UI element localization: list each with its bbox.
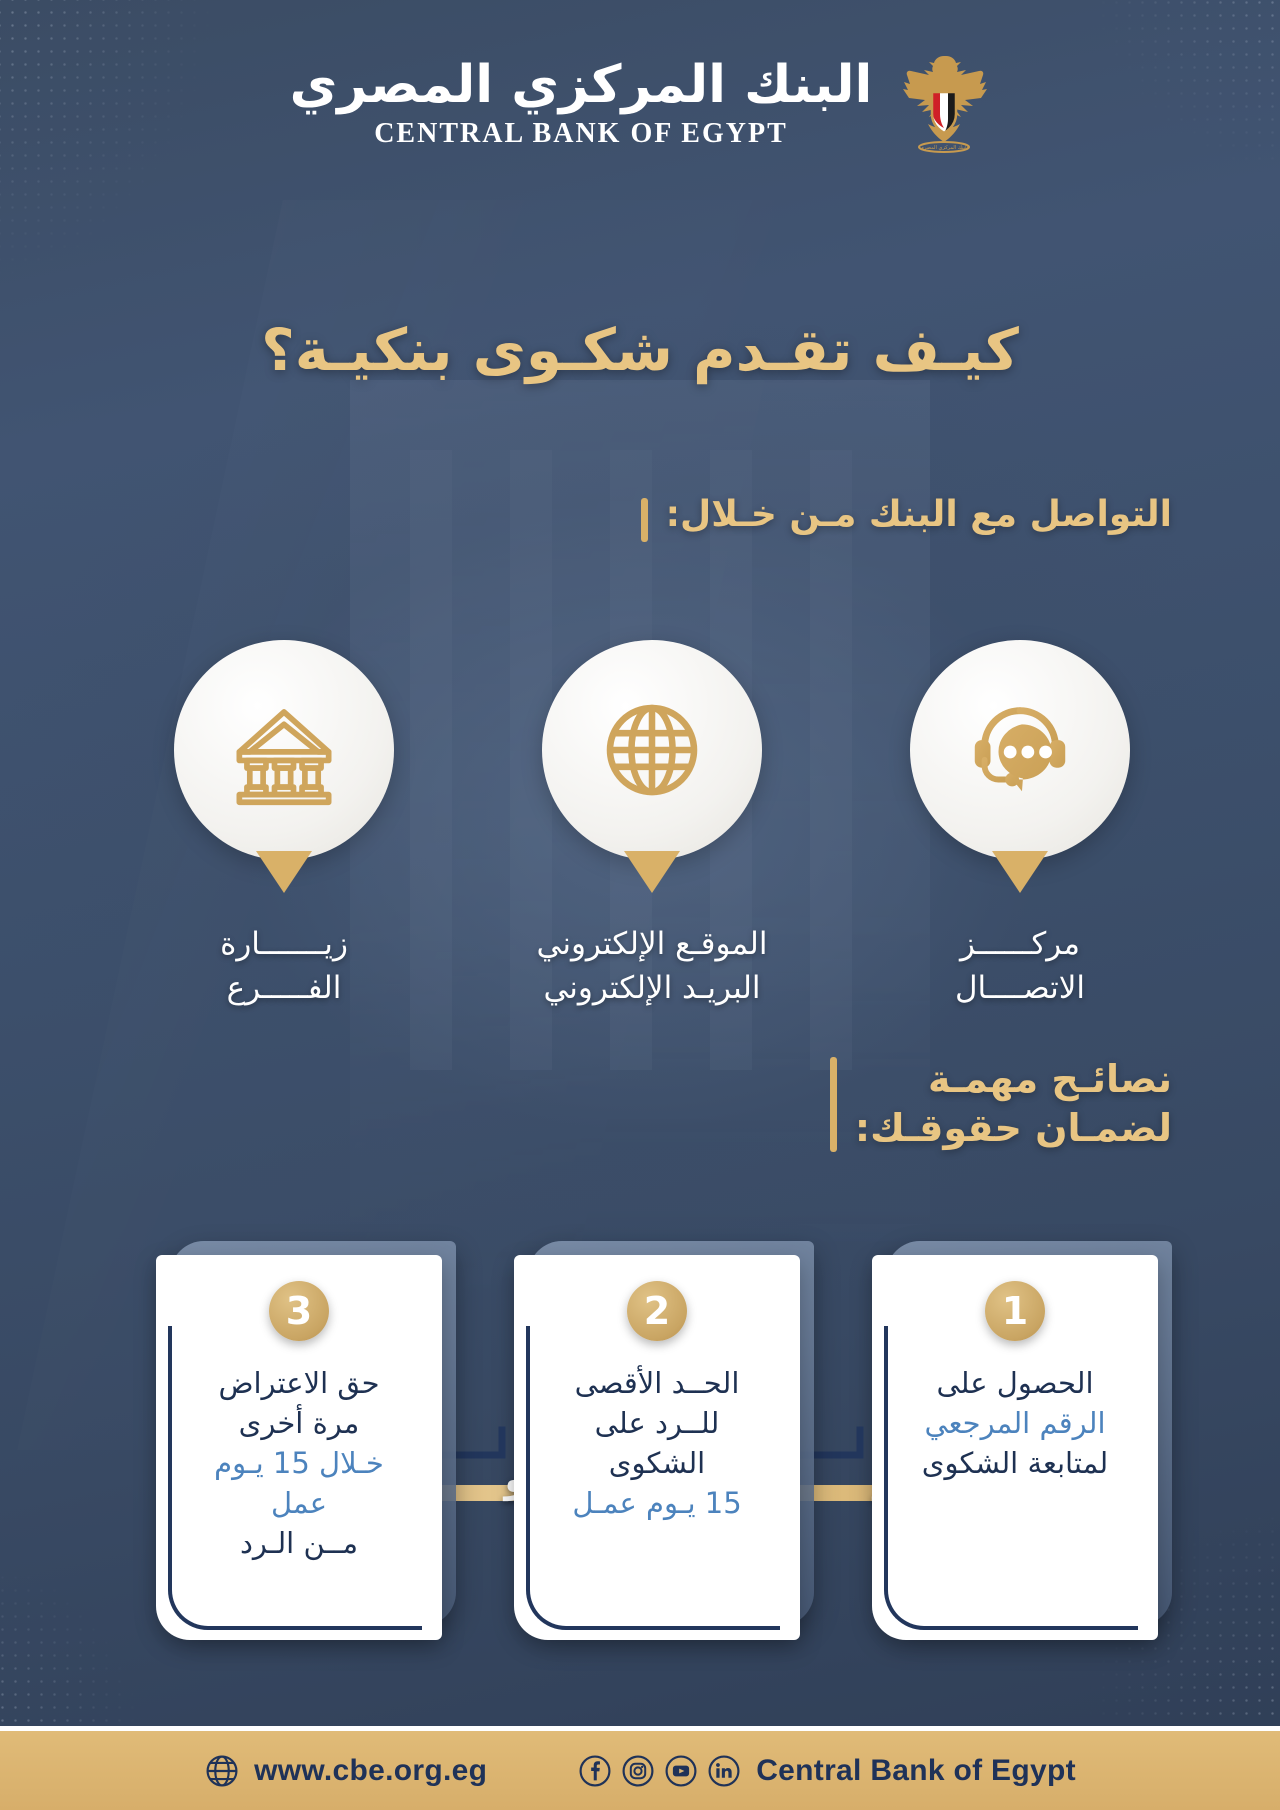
youtube-icon[interactable]: [663, 1753, 699, 1789]
headset-chat-icon: [961, 691, 1079, 809]
social-icons[interactable]: [577, 1753, 742, 1789]
channel-label: زيـــــــارة الفـــــرع: [134, 922, 434, 1010]
tip-card-3[interactable]: 3 حق الاعتراضمرة أخرىخـلال 15 يـومعملمــ…: [156, 1255, 442, 1640]
section-tips-title-line1: نصائـح مهمـة: [855, 1055, 1172, 1104]
card-text-line: للــرد على: [572, 1403, 741, 1443]
section-contact-title: التواصل مع البنك مـن خـلال:: [666, 494, 1172, 535]
footer-website-url[interactable]: www.cbe.org.eg: [254, 1754, 487, 1788]
tip-card-1[interactable]: 1 الحصول علىالرقم المرجعيلمتابعة الشكوى: [872, 1255, 1158, 1640]
card-text-line: لمتابعة الشكوى: [922, 1443, 1108, 1483]
section-header-contact: التواصل مع البنك مـن خـلال:: [641, 494, 1172, 542]
card-text-line: عمل: [214, 1483, 384, 1523]
channel-branch-visit[interactable]: زيـــــــارة الفـــــرع: [134, 640, 434, 1010]
channel-pointer: [992, 851, 1048, 893]
section-header-tips: نصائـح مهمـة لضمـان حقوقـك:: [830, 1055, 1172, 1154]
tip-card-2[interactable]: 2 الحــد الأقصىللــرد علىالشكوى15 يـوم ع…: [514, 1255, 800, 1640]
facebook-icon[interactable]: [577, 1753, 613, 1789]
section-accent-bar: [641, 498, 648, 542]
section-tips-title-line2: لضمـان حقوقـك:: [855, 1104, 1172, 1153]
card-body-text: الحــد الأقصىللــرد علىالشكوى15 يـوم عمـ…: [556, 1363, 757, 1523]
card-text-line: الحــد الأقصى: [572, 1363, 741, 1403]
channel-icon-circle: [542, 640, 762, 860]
card-body-text: الحصول علىالرقم المرجعيلمتابعة الشكوى: [906, 1363, 1124, 1483]
section-accent-bar: [830, 1057, 837, 1152]
card-text-line: الحصول على: [922, 1363, 1108, 1403]
card-number-badge: 2: [627, 1281, 687, 1341]
channel-call-center[interactable]: مركــــــز الاتصــــال: [870, 640, 1170, 1010]
card-number-badge: 3: [269, 1281, 329, 1341]
card-text-line: 15 يـوم عمـل: [572, 1483, 741, 1523]
bank-building-icon: [227, 693, 341, 807]
logo-wordmark: البنك المركزي المصري CENTRAL BANK OF EGY…: [290, 58, 873, 151]
card-text-line: خـلال 15 يـوم: [214, 1443, 384, 1483]
contact-channels: أو أو: [0, 640, 1280, 1000]
channel-label: الموقـع الإلكتروني البريـد الإلكتروني: [502, 922, 802, 1010]
footer-website-group[interactable]: www.cbe.org.eg: [204, 1753, 487, 1789]
logo-english-name: CENTRAL BANK OF EGYPT: [374, 118, 788, 150]
svg-text:البنك المركزي المصري: البنك المركزي المصري: [920, 145, 968, 151]
channel-label: مركــــــز الاتصــــال: [870, 922, 1170, 1010]
channel-pointer: [256, 851, 312, 893]
channel-online[interactable]: الموقـع الإلكتروني البريـد الإلكتروني: [502, 640, 802, 1010]
card-text-line: مرة أخرى: [214, 1403, 384, 1443]
globe-icon: [596, 694, 708, 806]
channel-icon-circle: [174, 640, 394, 860]
linkedin-icon[interactable]: [706, 1753, 742, 1789]
card-text-line: الشكوى: [572, 1443, 741, 1483]
footer-social-group[interactable]: Central Bank of Egypt: [577, 1753, 1076, 1789]
card-number-badge: 1: [985, 1281, 1045, 1341]
instagram-icon[interactable]: [620, 1753, 656, 1789]
cbe-logo: البنك المركزي المصري CENTRAL BANK OF EGY…: [0, 48, 1280, 160]
channel-pointer: [624, 851, 680, 893]
footer-brand-name: Central Bank of Egypt: [756, 1754, 1076, 1788]
logo-arabic-name: البنك المركزي المصري: [290, 58, 873, 113]
page-title: كيـف تقـدم شكـوى بنكيـة؟: [0, 316, 1280, 384]
tip-cards: 1 الحصول علىالرقم المرجعيلمتابعة الشكوى …: [0, 1255, 1280, 1655]
card-text-line: حق الاعتراض: [214, 1363, 384, 1403]
card-text-line: مــن الـرد: [214, 1523, 384, 1563]
eagle-of-saladin-emblem: البنك المركزي المصري: [898, 48, 990, 160]
card-body-text: حق الاعتراضمرة أخرىخـلال 15 يـومعملمــن …: [198, 1363, 400, 1563]
footer-bar: www.cbe.org.eg: [0, 1726, 1280, 1810]
channel-icon-circle: [910, 640, 1130, 860]
card-text-line: الرقم المرجعي: [922, 1403, 1108, 1443]
infographic-poster: البنك المركزي المصري CENTRAL BANK OF EGY…: [0, 0, 1280, 1810]
globe-icon: [204, 1753, 240, 1789]
